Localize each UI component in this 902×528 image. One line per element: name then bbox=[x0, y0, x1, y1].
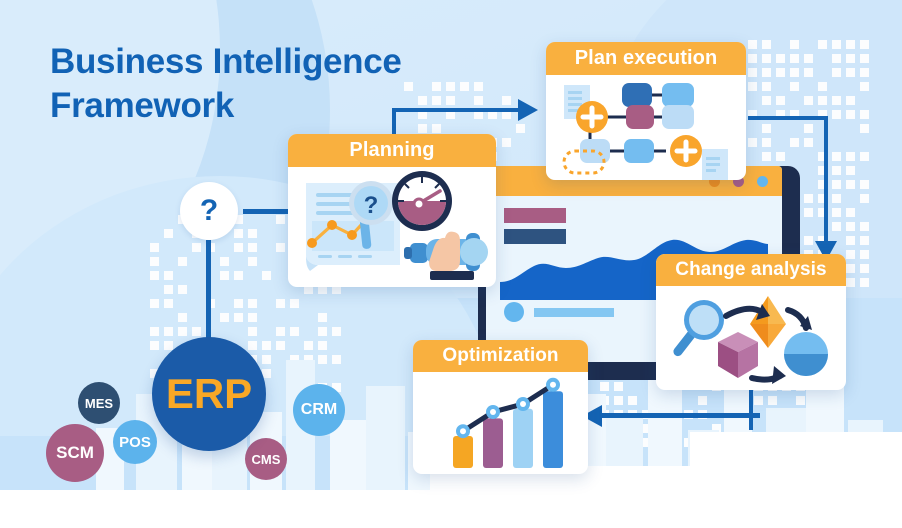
window-dot-blue[interactable] bbox=[757, 176, 768, 187]
bubble-mes-label: MES bbox=[85, 396, 113, 411]
bubble-crm-label: CRM bbox=[301, 401, 337, 419]
connector-change-to-optimization bbox=[600, 413, 760, 418]
question-mark-label: ? bbox=[200, 194, 218, 228]
building bbox=[366, 386, 405, 490]
bubble-mes[interactable]: MES bbox=[78, 382, 120, 424]
bubble-crm[interactable]: CRM bbox=[293, 384, 345, 436]
card-plan-execution[interactable]: Plan execution bbox=[546, 42, 746, 180]
arrowhead-to-planexec bbox=[518, 99, 538, 121]
data-point-center bbox=[520, 401, 526, 407]
card-planning[interactable]: Planning bbox=[288, 134, 496, 287]
data-point-center bbox=[550, 382, 556, 388]
bubble-erp-label: ERP bbox=[166, 370, 252, 418]
bubble-cms[interactable]: CMS bbox=[245, 438, 287, 480]
bar bbox=[483, 418, 503, 468]
flowchart-svg bbox=[546, 75, 746, 180]
connector-planning-to-planexec bbox=[392, 108, 520, 112]
bubble-scm-label: SCM bbox=[56, 443, 94, 463]
card-change-analysis-title: Change analysis bbox=[656, 254, 846, 286]
dashboard-progress-bar bbox=[534, 308, 614, 317]
bar bbox=[513, 409, 533, 468]
card-optimization-illustration bbox=[413, 372, 588, 474]
card-plan-execution-title: Plan execution bbox=[546, 42, 746, 75]
legend-swatch-purple bbox=[504, 208, 566, 223]
card-planning-title: Planning bbox=[288, 134, 496, 167]
dashboard-avatar-dot bbox=[504, 302, 524, 322]
infographic-canvas: Business Intelligence Framework bbox=[0, 0, 902, 528]
card-change-analysis-illustration bbox=[656, 286, 846, 390]
card-change-analysis[interactable]: Change analysis bbox=[656, 254, 846, 390]
card-optimization-title: Optimization bbox=[413, 340, 588, 372]
data-point-center bbox=[460, 428, 466, 434]
planning-illustration-svg: ? bbox=[288, 167, 496, 287]
bubble-scm[interactable]: SCM bbox=[46, 424, 104, 482]
change-analysis-svg bbox=[656, 286, 846, 390]
bubble-pos[interactable]: POS bbox=[113, 420, 157, 464]
bar bbox=[543, 391, 563, 468]
bubble-erp[interactable]: ERP bbox=[152, 337, 266, 451]
bar bbox=[453, 436, 473, 468]
page-title: Business Intelligence Framework bbox=[50, 40, 490, 128]
bottom-white-strip-3 bbox=[690, 432, 902, 528]
optimization-bar-chart-svg bbox=[413, 372, 588, 474]
card-planning-illustration: ? bbox=[288, 167, 496, 287]
connector-planexec-down bbox=[824, 116, 828, 244]
data-point-center bbox=[490, 409, 496, 415]
connector-planexec-right bbox=[748, 116, 828, 120]
title-line-2: Framework bbox=[50, 84, 490, 128]
question-node[interactable]: ? bbox=[180, 182, 238, 240]
svg-text:?: ? bbox=[364, 192, 379, 219]
connector-change-down-stub bbox=[749, 390, 753, 430]
bubble-pos-label: POS bbox=[119, 434, 151, 451]
title-line-1: Business Intelligence bbox=[50, 40, 490, 84]
card-optimization[interactable]: Optimization bbox=[413, 340, 588, 474]
card-plan-execution-illustration bbox=[546, 75, 746, 180]
bubble-cms-label: CMS bbox=[252, 452, 281, 467]
